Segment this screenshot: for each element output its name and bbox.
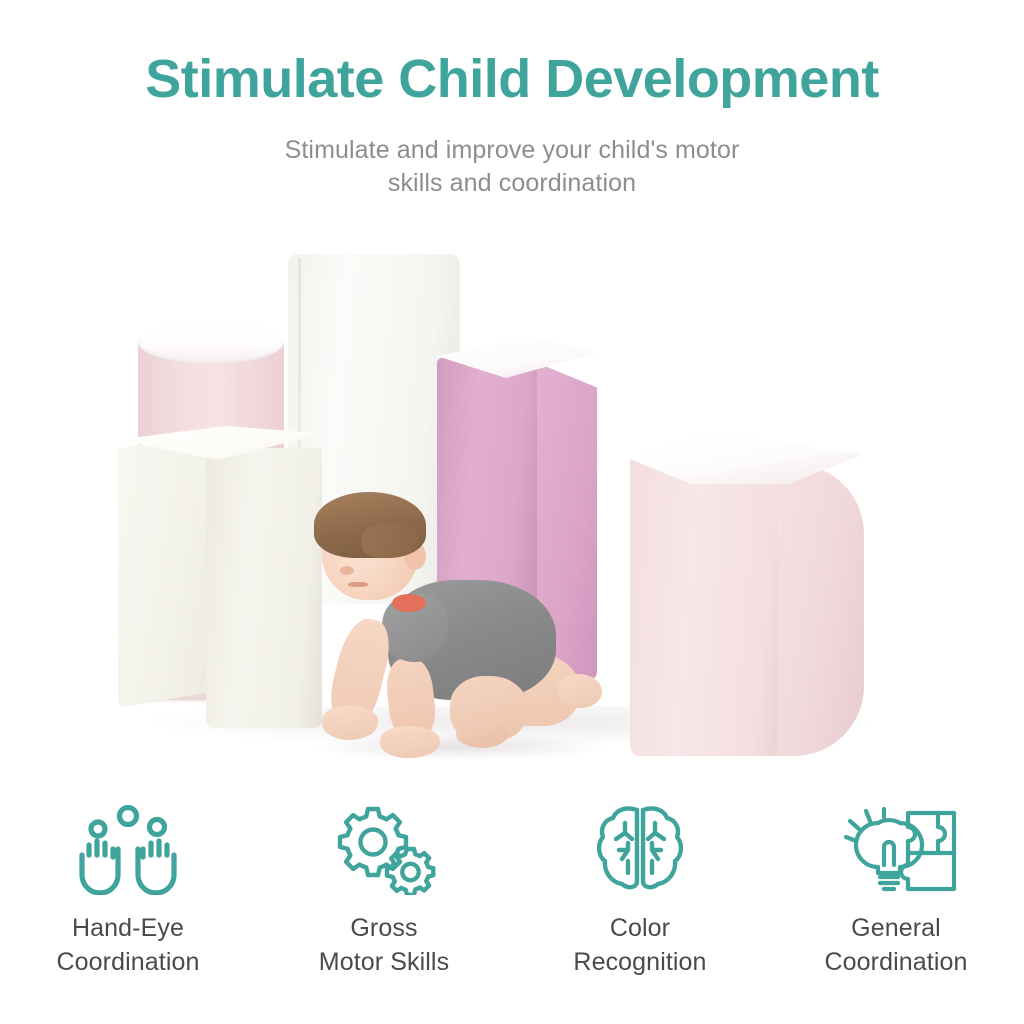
feature-label-line-2: Motor Skills [319,946,449,980]
baby-front-hand [322,706,378,740]
feature-label-line-1: General [825,912,968,946]
feature-label: Hand-Eye Coordination [57,912,200,979]
baby-nose [340,566,354,575]
crawling-baby [300,498,600,788]
page-subtitle: Stimulate and improve your child's motor… [0,134,1024,200]
hands-juggling-icon [72,800,184,898]
light-pink-half-round [630,458,778,756]
feature-label: Color Recognition [573,912,706,979]
subtitle-line-1: Stimulate and improve your child's motor [0,134,1024,167]
gears-icon [330,800,438,898]
subtitle-line-2: skills and coordination [0,167,1024,200]
feature-gross-motor-skills: Gross Motor Skills [256,800,512,1024]
baby-mouth [348,582,368,587]
foam-blocks-group [0,236,1024,796]
baby-knee [456,720,508,748]
feature-general-coordination: General Coordination [768,800,1024,1024]
feature-label-line-1: Color [573,912,706,946]
feature-label-line-1: Hand-Eye [57,912,200,946]
page-title: Stimulate Child Development [0,0,1024,106]
baby-back-hand [380,726,440,758]
feature-label-line-2: Recognition [573,946,706,980]
feature-label-line-1: Gross [319,912,449,946]
cream-rectangular-block-side [118,432,214,708]
promo-banner: Stimulate Child Development Stimulate an… [0,0,1024,1024]
pink-cylinder-top [138,320,284,364]
feature-hand-eye-coordination: Hand-Eye Coordination [0,800,256,1024]
product-hero-image [0,236,1024,796]
feature-label-line-2: Coordination [825,946,968,980]
header: Stimulate Child Development Stimulate an… [0,0,1024,200]
feature-row: Hand-Eye Coordination Gross Motor Skills [0,800,1024,1024]
feature-label-line-2: Coordination [57,946,200,980]
feature-label: Gross Motor Skills [319,912,449,979]
feature-color-recognition: Color Recognition [512,800,768,1024]
feature-label: General Coordination [825,912,968,979]
baby-foot [558,674,602,708]
lightbulb-puzzle-icon [834,800,958,898]
brain-icon [592,800,688,898]
baby-collar [392,594,426,612]
